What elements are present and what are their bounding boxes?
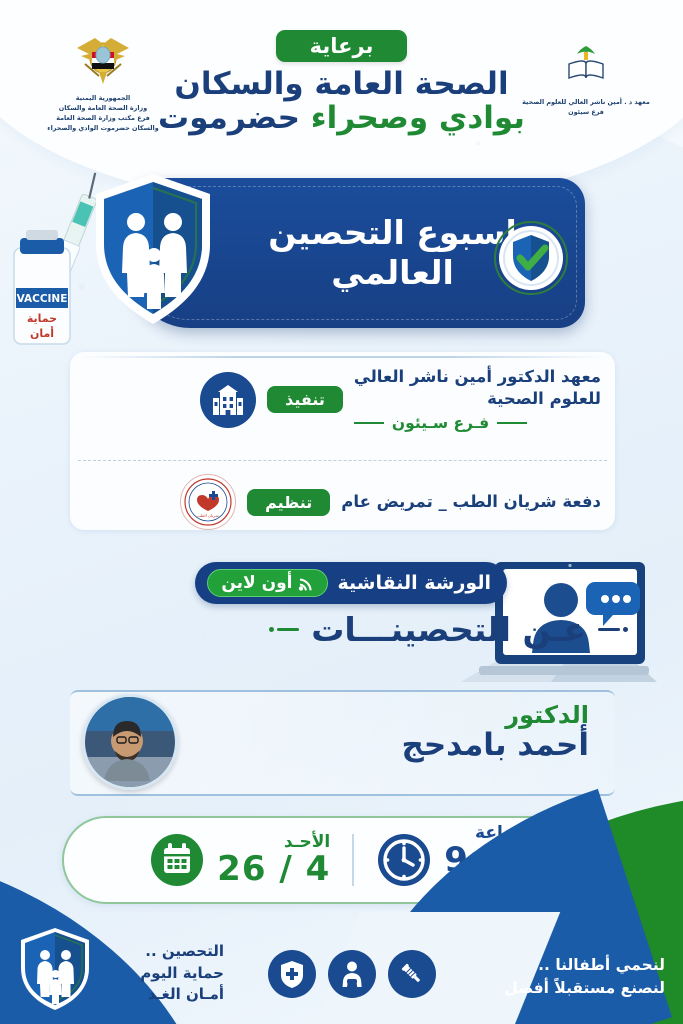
speaker-text-block: الدكتور أحمد بامدحج bbox=[401, 702, 589, 764]
syringe-icon-wrap bbox=[388, 950, 436, 998]
footer-cta-line-1: لنحمي أطفالنا .. bbox=[504, 954, 665, 977]
shield-check-badge-icon bbox=[493, 220, 569, 296]
hero-title-line-2: العالمي bbox=[331, 253, 454, 293]
baby-icon-wrap bbox=[328, 950, 376, 998]
info-row-implementation: معهد الدكتور أمين ناشر العالي للعلوم الص… bbox=[200, 366, 601, 433]
info-card: معهد الدكتور أمين ناشر العالي للعلوم الص… bbox=[70, 352, 615, 530]
footer-cta-line-2: لنصنع مستقبلاً أفضل bbox=[504, 977, 665, 1000]
header-title-line-2: بوادي وصحراء حضرموت bbox=[132, 101, 552, 137]
online-badge: أون لاين bbox=[207, 569, 327, 597]
yemen-eagle-emblem-icon bbox=[65, 28, 141, 90]
footer-family-shield-icon bbox=[18, 926, 92, 1010]
implementation-tag: تنفيذ bbox=[267, 386, 343, 413]
shield-medical-cross-icon-wrap bbox=[268, 950, 316, 998]
speaker-section: الدكتور أحمد بامدحج bbox=[70, 690, 615, 796]
branch-label: فـرع سـيئون bbox=[392, 413, 489, 434]
datetime-separator bbox=[352, 834, 354, 886]
organization-tag: تنظيم bbox=[247, 489, 330, 516]
shield-medical-cross-icon bbox=[279, 960, 305, 988]
poster-footer: التحصين .. حماية اليوم أمـان الغـد bbox=[0, 912, 683, 1024]
family-shield-icon bbox=[88, 170, 218, 328]
footer-slogan-line-1: التحصين .. bbox=[104, 941, 224, 963]
speaker-name: أحمد بامدحج bbox=[401, 728, 589, 764]
institute-logo-caption: معهد د . أمين ناشر العالي للعلوم الصحية … bbox=[511, 98, 661, 118]
header-title-block: برعاية الصحة العامة والسكان بوادي وصحراء… bbox=[132, 30, 552, 137]
info-card-divider bbox=[78, 460, 607, 461]
implementation-line-1: معهد الدكتور أمين ناشر العالي bbox=[354, 366, 601, 388]
clock-icon bbox=[376, 832, 432, 888]
implementation-text: معهد الدكتور أمين ناشر العالي للعلوم الص… bbox=[354, 366, 601, 433]
red-crescent-book-palm-emblem-icon bbox=[549, 32, 623, 94]
medical-artery-batch-logo-icon: شريان الطب bbox=[180, 474, 236, 530]
wifi-broadcast-icon bbox=[298, 576, 314, 591]
institute-building-icon bbox=[211, 383, 245, 417]
date-text: الأحـد 4 / 26 bbox=[217, 833, 330, 887]
svg-text:شريان الطب: شريان الطب bbox=[197, 513, 219, 518]
workshop-topic: عـن التحصينـــات bbox=[311, 610, 586, 649]
topic-marker-left bbox=[269, 627, 299, 632]
speaker-portrait-icon bbox=[82, 697, 175, 790]
institute-caption-line-2: فرع سيئون bbox=[511, 108, 661, 118]
branch-dash-right bbox=[497, 422, 527, 424]
branch-dash-left bbox=[354, 422, 384, 424]
speaker-role: الدكتور bbox=[401, 702, 589, 728]
workshop-section: الورشة النقاشية أون لاين عـن التحصينـــا… bbox=[0, 548, 683, 698]
poster-header: الجمهورية اليمنية وزارة الصحة العامة وال… bbox=[0, 14, 683, 164]
calendar-icon bbox=[149, 832, 205, 888]
hero-title-line-1: اسبوع التحصين bbox=[268, 213, 517, 253]
footer-call-to-action: لنحمي أطفالنا .. لنصنع مستقبلاً أفضل bbox=[504, 954, 665, 1001]
workshop-topic-row: عـن التحصينـــات bbox=[269, 610, 628, 649]
institute-caption-line-1: معهد د . أمين ناشر العالي للعلوم الصحية bbox=[511, 98, 661, 108]
topic-marker-right bbox=[598, 627, 628, 632]
svg-text:أمان: أمان bbox=[30, 326, 54, 340]
svg-text:VACCINE: VACCINE bbox=[17, 293, 68, 305]
workshop-pill-label: الورشة النقاشية bbox=[338, 572, 492, 594]
syringe-icon bbox=[399, 961, 425, 987]
info-row-organization: دفعة شريان الطب _ تمريض عام تنظيم شريان … bbox=[180, 474, 601, 530]
footer-slogan: التحصين .. حماية اليوم أمـان الغـد bbox=[104, 941, 224, 1006]
date-value: 4 / 26 bbox=[217, 852, 330, 888]
organization-line-1: دفعة شريان الطب _ تمريض عام bbox=[341, 491, 601, 513]
organization-text: دفعة شريان الطب _ تمريض عام bbox=[341, 491, 601, 513]
svg-text:حماية: حماية bbox=[27, 312, 57, 325]
header-title-line-1: الصحة العامة والسكان bbox=[132, 67, 552, 101]
header-title-green-part: بوادي وصحراء bbox=[311, 100, 525, 136]
institute-logo: معهد د . أمين ناشر العالي للعلوم الصحية … bbox=[511, 32, 661, 118]
online-badge-label: أون لاين bbox=[221, 573, 292, 593]
speaker-avatar bbox=[82, 694, 178, 790]
footer-icon-row bbox=[268, 950, 436, 998]
date-block: الأحـد 4 / 26 bbox=[127, 832, 352, 888]
header-title-blue-part: حضرموت bbox=[158, 100, 300, 136]
footer-slogan-line-2: حماية اليوم bbox=[104, 963, 224, 985]
baby-icon bbox=[339, 960, 365, 988]
implementation-branch: فـرع سـيئون bbox=[354, 413, 601, 434]
institute-building-icon-wrap bbox=[200, 372, 256, 428]
workshop-pill: الورشة النقاشية أون لاين bbox=[195, 562, 507, 604]
footer-slogan-line-3: أمـان الغـد bbox=[104, 984, 224, 1006]
poster-root: الجمهورية اليمنية وزارة الصحة العامة وال… bbox=[0, 0, 683, 1024]
implementation-line-2: للعلوم الصحية bbox=[354, 388, 601, 410]
patron-badge: برعاية bbox=[276, 30, 408, 62]
hero-section: VACCINE حماية أمان اسبوع التحصين العالمي bbox=[0, 170, 683, 335]
